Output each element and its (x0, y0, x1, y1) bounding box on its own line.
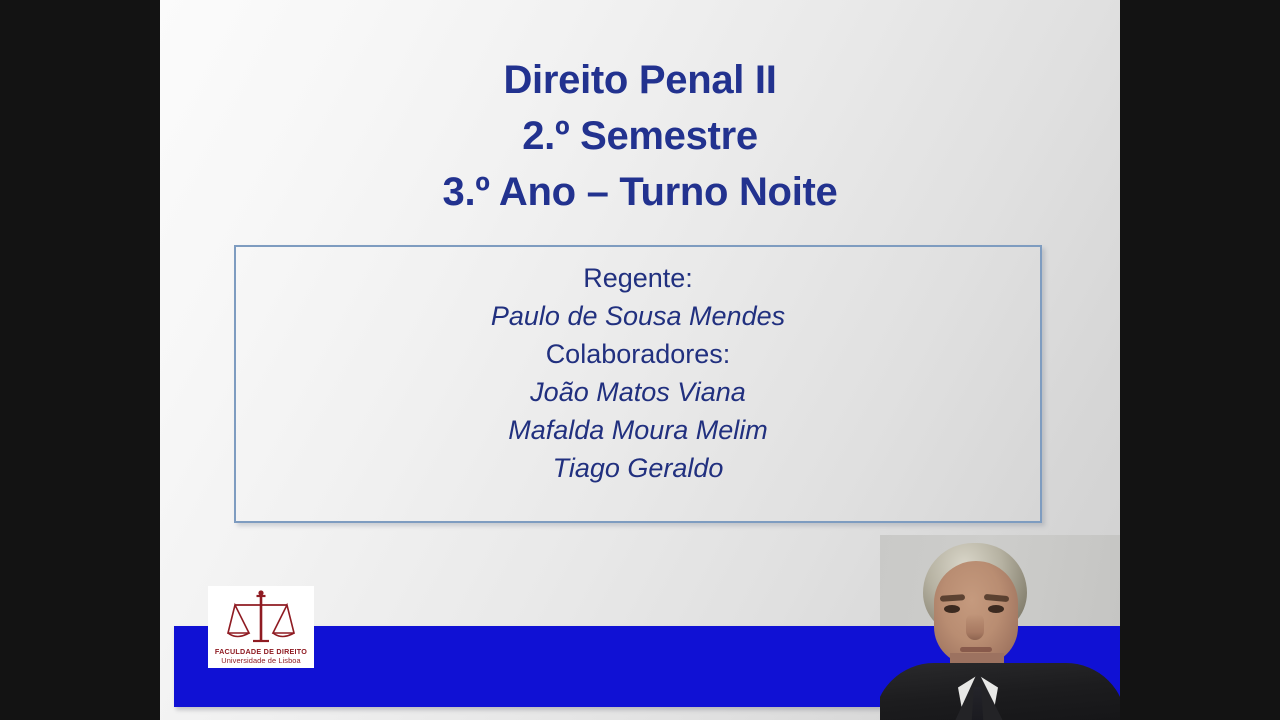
letterbox-left (0, 0, 160, 720)
speaker-nose (966, 614, 984, 640)
speaker-eye-left (944, 605, 960, 613)
credit-line-colaboradores-label: Colaboradores: (236, 335, 1040, 373)
video-player-stage: Direito Penal II 2.º Semestre 3.º Ano – … (0, 0, 1280, 720)
letterbox-right (1120, 0, 1280, 720)
speaker-webcam-overlay[interactable] (880, 535, 1120, 720)
credit-line-regente-name: Paulo de Sousa Mendes (236, 297, 1040, 335)
fdul-logo-line-1: FACULDADE DE DIREITO (215, 647, 307, 656)
presentation-slide: Direito Penal II 2.º Semestre 3.º Ano – … (160, 0, 1120, 720)
fdul-logo: FACULDADE DE DIREITO Universidade de Lis… (208, 586, 314, 668)
title-line-2: 2.º Semestre (160, 108, 1120, 164)
speaker-suit-jacket (880, 663, 1120, 720)
title-line-3: 3.º Ano – Turno Noite (160, 164, 1120, 220)
speaker-mouth (960, 647, 992, 652)
credit-line-collaborator-1: João Matos Viana (236, 373, 1040, 411)
credit-line-regente-label: Regente: (236, 259, 1040, 297)
fdul-logo-line-2: Universidade de Lisboa (221, 656, 300, 666)
credits-list: Regente: Paulo de Sousa Mendes Colaborad… (236, 247, 1040, 487)
scales-of-justice-icon (226, 589, 296, 647)
credit-line-collaborator-3: Tiago Geraldo (236, 449, 1040, 487)
title-line-1: Direito Penal II (160, 52, 1120, 108)
credits-box: Regente: Paulo de Sousa Mendes Colaborad… (234, 245, 1042, 523)
speaker-eye-right (988, 605, 1004, 613)
slide-title: Direito Penal II 2.º Semestre 3.º Ano – … (160, 52, 1120, 220)
credit-line-collaborator-2: Mafalda Moura Melim (236, 411, 1040, 449)
